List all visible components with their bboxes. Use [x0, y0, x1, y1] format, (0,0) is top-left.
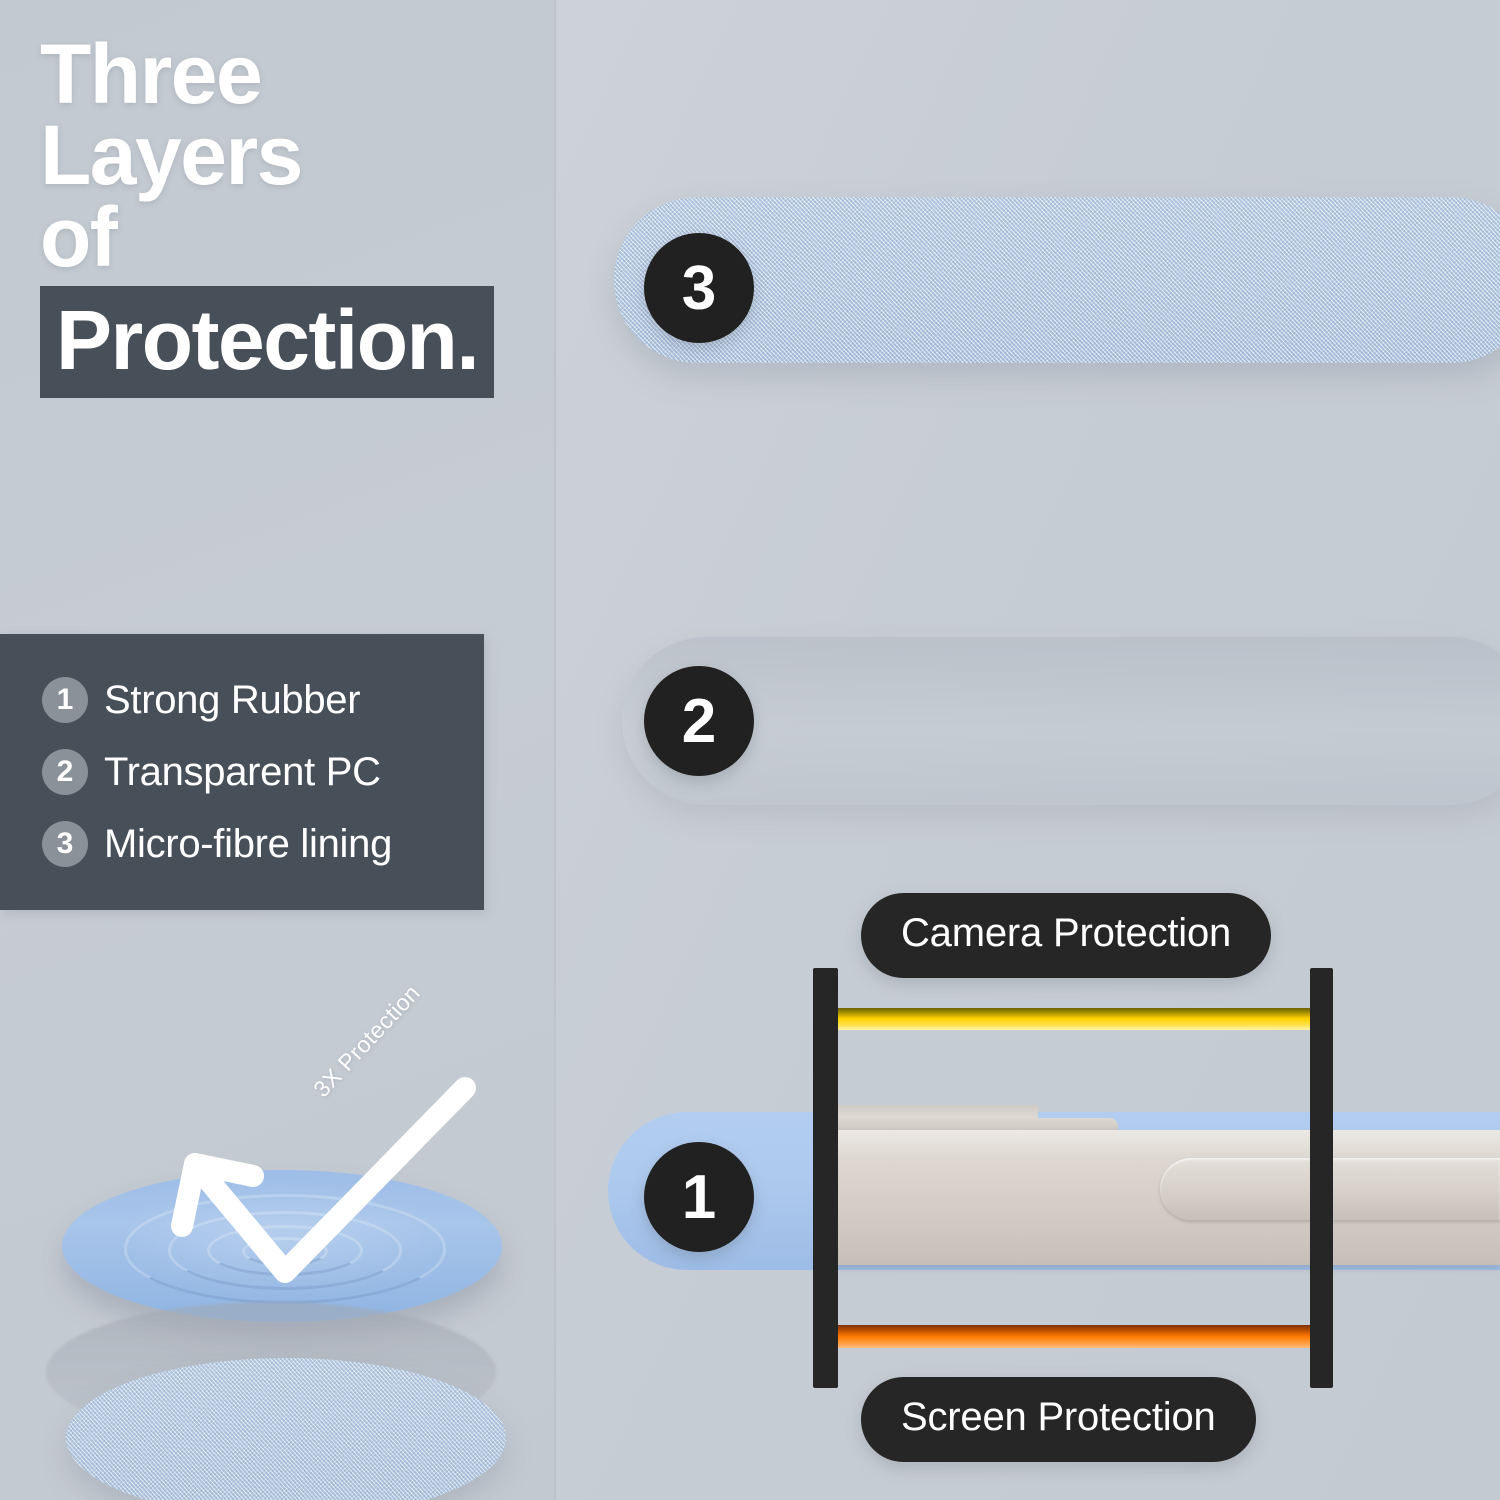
layer-badge-1: 1: [644, 1142, 754, 1252]
layer-badge-3: 3: [644, 233, 754, 343]
legend-number-3: 3: [42, 821, 88, 867]
legend-item-transparent-pc: 2 Transparent PC: [42, 736, 470, 808]
screen-protection-pill: Screen Protection: [861, 1377, 1256, 1462]
bounce-arrow-icon: [0, 1040, 556, 1500]
layer-badge-2: 2: [644, 666, 754, 776]
raised-lip-marker-left: [813, 968, 838, 1388]
headline-block: Three Layers of Protection.: [40, 34, 540, 398]
legend-label-1: Strong Rubber: [104, 678, 360, 723]
legend-card: 1 Strong Rubber 2 Transparent PC 3 Micro…: [0, 634, 484, 910]
exploded-layers-illustration: 3X Protection: [0, 1040, 556, 1500]
legend-number-2: 2: [42, 749, 88, 795]
legend-list: 1 Strong Rubber 2 Transparent PC 3 Micro…: [42, 664, 470, 880]
camera-protection-line: [824, 1008, 1318, 1030]
raised-lip-marker-right: [1310, 968, 1333, 1388]
legend-item-strong-rubber: 1 Strong Rubber: [42, 664, 470, 736]
legend-item-micro-fibre-lining: 3 Micro-fibre lining: [42, 808, 470, 880]
legend-number-1: 1: [42, 677, 88, 723]
infographic-canvas: Three Layers of Protection. 1 Strong Rub…: [0, 0, 1500, 1500]
screen-protection-line: [824, 1325, 1318, 1348]
headline-line-3: of: [40, 197, 540, 278]
legend-label-3: Micro-fibre lining: [104, 822, 392, 867]
headline-line-1: Three: [40, 34, 540, 115]
headline-line-2: Layers: [40, 115, 540, 196]
camera-protection-pill: Camera Protection: [861, 893, 1271, 978]
headline-highlight: Protection.: [40, 286, 494, 398]
legend-label-2: Transparent PC: [104, 750, 381, 795]
